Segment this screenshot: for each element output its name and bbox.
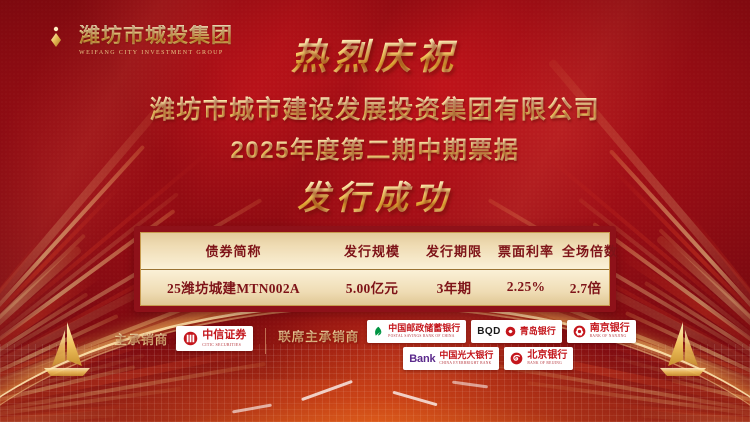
table-cell-rate: 2.25% <box>490 279 562 295</box>
underwriter-name-en: CITIC SECURITIES <box>202 342 246 347</box>
underwriter-name-cn: 北京银行 <box>527 351 567 362</box>
table-header-row: 债券简称 发行规模 发行期限 票面利率 全场倍数 <box>141 233 609 270</box>
table-cell-bond-name: 25潍坊城建MTN002A <box>141 277 326 297</box>
bqd-dot-icon <box>505 326 516 337</box>
underwriter-logo-bqd: BQD 青岛银行 <box>471 320 561 343</box>
underwriter-logo-beijing: 北京银行 BANK OF BEIJING <box>504 347 573 370</box>
bond-details-table: 债券简称 发行规模 发行期限 票面利率 全场倍数 25潍坊城建MTN002A 5… <box>134 226 616 312</box>
headline-company: 潍坊市城市建设发展投资集团有限公司 <box>0 90 750 126</box>
table-cell-term: 3年期 <box>418 277 490 297</box>
underwriter-logo-nanjing: 南京银行 BANK OF NANJING <box>567 320 636 343</box>
underwriter-name-cn: 中国邮政储蓄银行 <box>388 324 460 333</box>
underwriter-logo-everbright: Bank 中国光大银行 CHINA EVERBRIGHT BANK <box>403 347 499 370</box>
underwriter-name-en: BANK OF NANJING <box>590 334 630 339</box>
headline-success: 发行成功 <box>0 171 750 219</box>
underwriter-name-cn: 青岛银行 <box>520 327 556 336</box>
table-header-cell: 票面利率 <box>490 241 562 260</box>
underwriter-logo-citic: 中信证券 CITIC SECURITIES <box>176 326 253 351</box>
joint-underwriter-row-1: 中国邮政储蓄银行 POSTAL SAVINGS BANK OF CHINA BQ… <box>367 320 635 343</box>
underwriters-section: 主承销商 中信证券 CITIC SECURITIES 联席主承销商 <box>0 320 750 370</box>
bqd-prefix: BQD <box>477 326 500 337</box>
nanjing-flower-icon <box>573 325 586 338</box>
citic-seal-icon <box>183 331 198 346</box>
poster-canvas: 潍坊市城投集团 WEIFANG CITY INVESTMENT GROUP 热烈… <box>0 0 750 422</box>
table-header-cell: 发行期限 <box>418 241 490 260</box>
joint-underwriter-logos: 中国邮政储蓄银行 POSTAL SAVINGS BANK OF CHINA BQ… <box>367 320 635 370</box>
logo-name-en: WEIFANG CITY INVESTMENT GROUP <box>79 50 233 56</box>
company-logo: 潍坊市城投集团 WEIFANG CITY INVESTMENT GROUP <box>26 18 233 62</box>
joint-underwriter-label: 联席主承销商 <box>278 326 359 345</box>
underwriter-name-en: BANK OF BEIJING <box>527 361 567 366</box>
table-row: 25潍坊城建MTN002A 5.00亿元 3年期 2.25% 2.7倍 <box>141 270 609 306</box>
everbright-icon: Bank <box>409 353 435 365</box>
headline-issue: 2025年度第二期中期票据 <box>0 130 750 165</box>
joint-underwriter-label-group: 联席主承销商 <box>278 320 359 345</box>
underwriter-name-en: CHINA EVERBRIGHT BANK <box>439 361 493 366</box>
underwriter-logo-psbc: 中国邮政储蓄银行 POSTAL SAVINGS BANK OF CHINA <box>367 320 466 343</box>
underwriter-name-en: POSTAL SAVINGS BANK OF CHINA <box>388 334 460 339</box>
table-header-cell: 发行规模 <box>326 241 418 260</box>
table-cell-size: 5.00亿元 <box>326 277 418 297</box>
lead-underwriter-group: 主承销商 中信证券 CITIC SECURITIES <box>114 320 253 351</box>
crescent-diamond-emblem-icon <box>26 18 70 62</box>
underwriter-name-cn: 中国光大银行 <box>439 351 493 360</box>
section-divider <box>265 328 266 354</box>
beijing-seal-icon <box>510 352 523 365</box>
lead-underwriter-label: 主承销商 <box>114 329 168 348</box>
table-header-cell: 债券简称 <box>141 241 326 260</box>
underwriter-name-cn: 南京银行 <box>590 324 630 335</box>
joint-underwriter-row-2: Bank 中国光大银行 CHINA EVERBRIGHT BANK <box>367 347 635 370</box>
table-cell-multiple: 2.7倍 <box>562 277 609 297</box>
logo-name-cn: 潍坊市城投集团 <box>79 25 233 46</box>
table-header-cell: 全场倍数 <box>562 241 618 260</box>
underwriter-name-cn: 中信证券 <box>202 330 246 342</box>
psbc-leaf-icon <box>373 326 384 337</box>
